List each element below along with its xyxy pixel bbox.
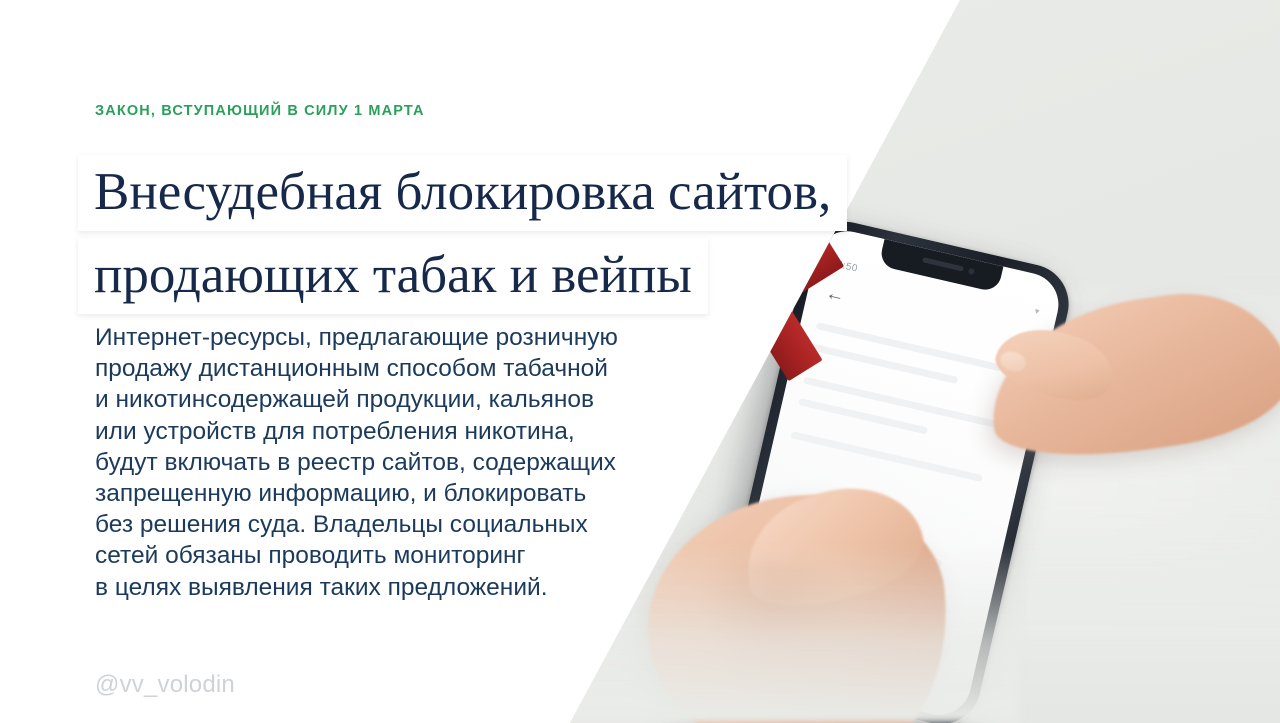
body-line: и никотинсодержащей продукции, кальянов (95, 384, 735, 415)
body-line: будут включать в реестр сайтов, содержащ… (95, 447, 735, 478)
author-handle: @vv_volodin (95, 671, 235, 699)
body-line: или устройств для потребления никотина, (95, 416, 735, 447)
body-line: Интернет-ресурсы, предлагающие розничную (95, 322, 735, 353)
body-line: запрещенную информацию, и блокировать (95, 478, 735, 509)
body-copy: Интернет-ресурсы, предлагающие розничную… (95, 322, 735, 603)
page-title: Внесудебная блокировка сайтов, продающих… (78, 155, 847, 314)
body-line: без решения суда. Владельцы социальных (95, 509, 735, 540)
headline-line-2: продающих табак и вейпы (78, 238, 708, 314)
eyebrow-label: ЗАКОН, ВСТУПАЮЩИЙ В СИЛУ 1 МАРТА (95, 103, 425, 119)
body-line: сетей обязаны проводить мониторинг (95, 540, 735, 571)
infographic-card: 12:50 ▾ ← ЗАКОН, ВСТУПА (0, 0, 1280, 723)
body-line: в целях выявления таких предложений. (95, 572, 735, 603)
headline-line-1: Внесудебная блокировка сайтов, (78, 155, 847, 231)
body-line: продажу дистанционным способом табачной (95, 353, 735, 384)
